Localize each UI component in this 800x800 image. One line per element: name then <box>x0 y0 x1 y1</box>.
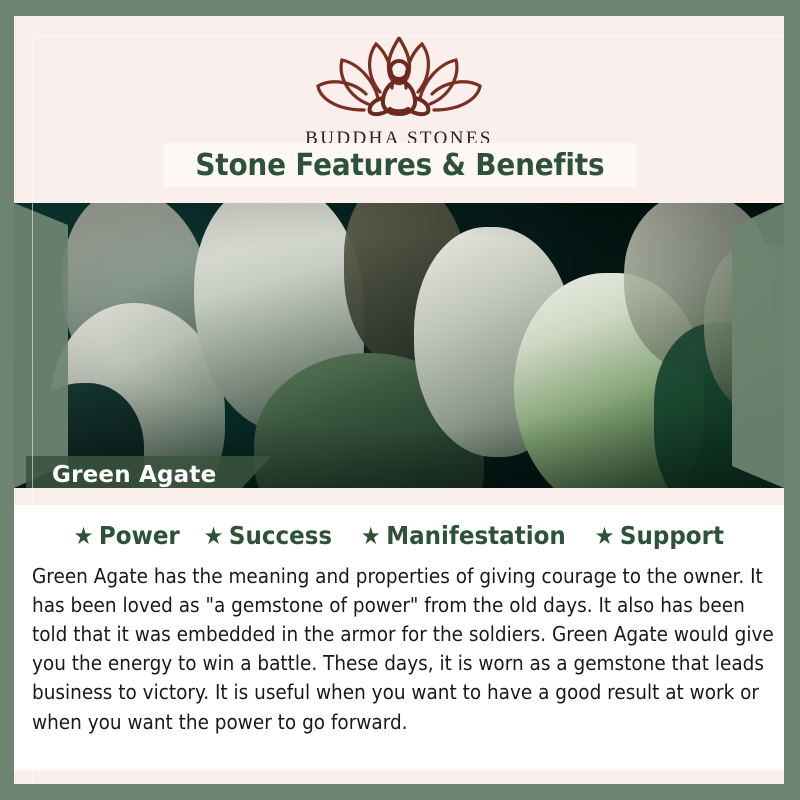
benefit-keyword: ★ Support <box>594 521 723 550</box>
photo-side-panel-left <box>14 203 68 488</box>
frame-border-top <box>0 0 800 16</box>
bottom-strip <box>14 770 784 784</box>
frame-border-left <box>0 0 14 800</box>
lotus-meditation-figure-icon <box>304 30 494 126</box>
benefit-keyword: ★ Manifestation <box>361 521 566 550</box>
star-icon: ★ <box>204 524 224 548</box>
photo-side-panel-right <box>732 203 784 488</box>
benefit-keyword-label: Support <box>620 521 724 550</box>
card-header: BUDDHA STONES Stone Features & Benefits <box>14 16 784 203</box>
description-text: Green Agate has the meaning and properti… <box>32 562 784 737</box>
title-banner: Stone Features & Benefits <box>164 143 636 187</box>
frame-border-bottom <box>0 784 800 800</box>
star-icon: ★ <box>73 524 93 548</box>
stone-name-label: Green Agate <box>52 462 216 488</box>
benefit-keyword-label: Success <box>229 521 332 550</box>
benefit-keywords: ★ Power ★ Success ★ Manifestation ★ Supp… <box>14 505 784 550</box>
star-icon: ★ <box>594 524 614 548</box>
benefit-keyword-label: Power <box>99 521 180 550</box>
stone-photo <box>14 203 784 488</box>
divider-strip <box>14 488 784 505</box>
benefit-keyword: ★ Power <box>73 521 179 550</box>
frame-border-right <box>784 0 800 800</box>
content-area: ★ Power ★ Success ★ Manifestation ★ Supp… <box>14 505 784 784</box>
brand-logo: BUDDHA STONES <box>14 30 784 150</box>
benefit-keyword: ★ Success <box>204 521 333 550</box>
photo-vignette <box>14 203 784 488</box>
benefit-keyword-label: Manifestation <box>386 521 566 550</box>
page-title: Stone Features & Benefits <box>196 148 605 183</box>
star-icon: ★ <box>361 524 381 548</box>
product-info-card: BUDDHA STONES Stone Features & Benefits <box>0 0 800 800</box>
card-inner: BUDDHA STONES Stone Features & Benefits <box>14 16 784 784</box>
